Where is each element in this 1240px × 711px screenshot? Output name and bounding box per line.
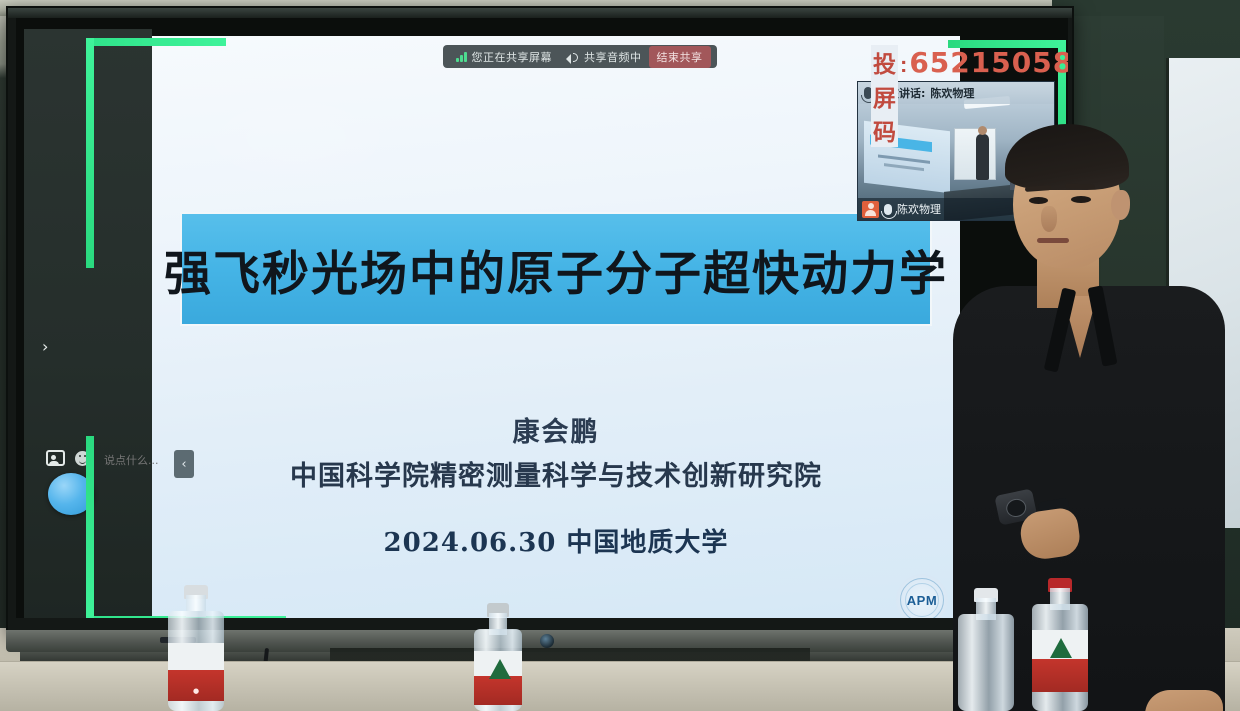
slide-title: 强飞秒光场中的原子分子超快动力学 xyxy=(164,235,948,304)
dock-collapse-button[interactable]: ‹ xyxy=(174,450,194,478)
slide-affiliation: 中国科学院精密测量科学与技术创新研究院 xyxy=(152,454,960,493)
presenter-ear xyxy=(1111,190,1130,220)
audio-status: 共享音频中 xyxy=(559,49,649,65)
apm-logo-text: APM xyxy=(907,593,937,608)
presenter-mouth xyxy=(1037,238,1069,243)
sharing-status-label: 您正在共享屏幕 xyxy=(472,49,553,65)
water-bottle-right-b xyxy=(1032,578,1088,711)
presentation-slide: 强飞秒光场中的原子分子超快动力学 康会鹏 中国科学院精密测量科学与技术创新研究院… xyxy=(152,36,960,618)
display-sensor xyxy=(540,634,554,648)
chat-input[interactable] xyxy=(104,454,162,467)
dock-expand-chevron-icon[interactable]: › xyxy=(42,338,56,356)
presenter-eye-right xyxy=(1071,196,1091,203)
avatar-icon xyxy=(862,201,879,218)
display-screen[interactable]: 强飞秒光场中的原子分子超快动力学 康会鹏 中国科学院精密测量科学与技术创新研究院… xyxy=(16,18,1068,618)
bottle-label xyxy=(1032,630,1088,692)
end-share-button[interactable]: 结束共享 xyxy=(649,46,711,68)
wall-display: 强飞秒光场中的原子分子超快动力学 康会鹏 中国科学院精密测量科学与技术创新研究院… xyxy=(6,6,1074,632)
slide-date-venue: 2024.06.30 中国地质大学 xyxy=(152,522,960,559)
slide-title-band: 强飞秒光场中的原子分子超快动力学 xyxy=(180,212,932,326)
water-bottle-left: ● xyxy=(168,585,224,711)
lecture-room-scene: 强飞秒光场中的原子分子超快动力学 康会鹏 中国科学院精密测量科学与技术创新研究院… xyxy=(0,0,1240,711)
sharing-status: 您正在共享屏幕 xyxy=(449,49,559,65)
share-border-bottom-left-v xyxy=(86,436,94,618)
slide-author: 康会鹏 xyxy=(152,410,960,449)
share-border-top-left-v xyxy=(86,38,94,268)
microphone-icon xyxy=(884,204,892,215)
cast-code-label: 投屏码 xyxy=(871,45,898,147)
cast-code-separator: : xyxy=(900,52,907,78)
bottle-body xyxy=(958,614,1014,711)
signal-bars-icon xyxy=(456,51,467,62)
bottle-label: ● xyxy=(168,643,224,701)
presenter-eye-left xyxy=(1029,197,1048,204)
water-bottle-right-a xyxy=(958,588,1014,711)
display-bezel xyxy=(8,8,1072,18)
presenter-nose xyxy=(1041,206,1057,232)
screen-share-icon[interactable] xyxy=(46,450,65,466)
presenter-brow-right xyxy=(1065,183,1095,189)
screen-share-toolbar: 您正在共享屏幕 共享音频中 结束共享 xyxy=(443,45,717,68)
cast-code-value: 65215058 xyxy=(909,46,1068,79)
water-bottle-center xyxy=(474,603,522,711)
bottle-label xyxy=(474,651,522,705)
audio-status-label: 共享音频中 xyxy=(584,49,642,65)
speaker-icon xyxy=(566,51,579,62)
presenter-hair xyxy=(1005,124,1129,190)
pip-participant-name: 陈欢物理 xyxy=(897,201,941,217)
apm-logo-icon: APM xyxy=(896,574,948,618)
dock-tool-row xyxy=(46,450,90,466)
presenter-hand-right xyxy=(1145,690,1223,711)
share-border-top-left-h xyxy=(86,38,226,46)
